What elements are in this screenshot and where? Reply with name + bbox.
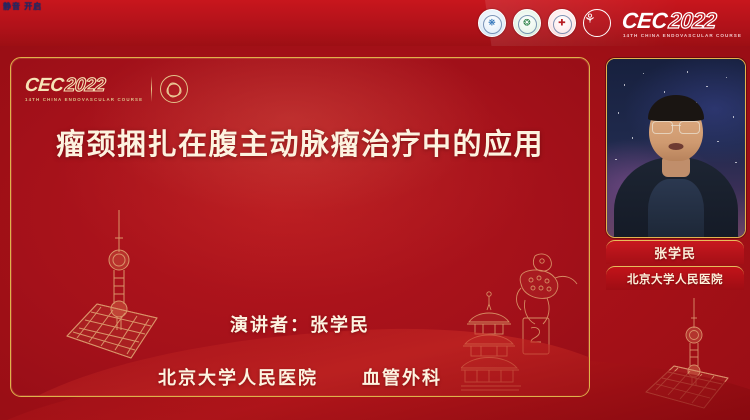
- speaker-mouth: [669, 143, 684, 150]
- slide-department: 血管外科: [362, 368, 442, 388]
- speaker-hair: [648, 95, 704, 121]
- slide-affiliation-line: 北京大学人民医院 血管外科: [51, 366, 549, 390]
- speaker-name-card: 张学民 北京大学人民医院: [606, 240, 744, 290]
- top-banner: ❋ ❂ ✚ ⚘ CEC 2022 14TH CHINA ENDOVASCULAR…: [0, 0, 750, 46]
- speaker-figure: [607, 59, 745, 237]
- banner-logo-group: ❋ ❂ ✚ ⚘ CEC 2022 14TH CHINA ENDOVASCULAR…: [478, 4, 742, 42]
- slide-speaker-line: 演讲者：张学民: [51, 313, 549, 337]
- presentation-screen: 静音 开启 ❋ ❂ ✚ ⚘ CEC 2022 14TH CHINA ENDOVA…: [0, 0, 750, 420]
- banner-cec-logo: CEC 2022 14TH CHINA ENDOVASCULAR COURSE: [622, 8, 742, 39]
- banner-cec-subtitle: 14TH CHINA ENDOVASCULAR COURSE: [623, 33, 742, 39]
- org-logo-4-icon: ⚘: [583, 9, 611, 37]
- speaker-video-panel[interactable]: [606, 58, 746, 238]
- oriental-pearl-tower-left-icon: [39, 208, 189, 388]
- banner-cec-word: CEC: [621, 10, 668, 32]
- slide-cec-word: CEC: [24, 76, 64, 95]
- logo-divider: [151, 76, 152, 102]
- oriental-pearl-tower-right-icon: [618, 296, 744, 414]
- speaker-glasses-icon: [652, 121, 700, 132]
- org-logo-2-icon: ❂: [513, 9, 541, 37]
- speaker-shirt: [648, 179, 704, 238]
- org-logo-4-mark: ⚘: [584, 11, 596, 26]
- mute-status-overlay: 静音 开启: [3, 2, 42, 11]
- org-logo-3-mark: ✚: [558, 19, 566, 28]
- slide-title: 瘤颈捆扎在腹主动脉瘤治疗中的应用: [51, 126, 549, 164]
- speaker-institution: 北京大学人民医院: [606, 266, 744, 290]
- slide-cec-subtitle: 14TH CHINA ENDOVASCULAR COURSE: [25, 97, 143, 103]
- org-logo-2-mark: ❂: [523, 19, 531, 28]
- slide-cec-logo: CEC 2022 14TH CHINA ENDOVASCULAR COURSE: [25, 75, 188, 103]
- org-logo-1-icon: ❋: [478, 9, 506, 37]
- slide-cec-row: CEC 2022: [25, 76, 143, 95]
- speaker-name: 张学民: [606, 240, 744, 264]
- org-logo-3-icon: ✚: [548, 9, 576, 37]
- banner-cec-year: 2022: [668, 10, 717, 32]
- slide-affiliation: 北京大学人民医院: [158, 368, 318, 388]
- org-logo-1-mark: ❋: [488, 19, 496, 28]
- cec-emblem-icon: [160, 75, 188, 103]
- slide-cec-logo-text: CEC 2022 14TH CHINA ENDOVASCULAR COURSE: [25, 76, 143, 103]
- slide-frame: CEC 2022 14TH CHINA ENDOVASCULAR COURSE: [10, 57, 590, 397]
- banner-cec-row: CEC 2022: [622, 10, 716, 32]
- slide-cec-year: 2022: [64, 76, 106, 95]
